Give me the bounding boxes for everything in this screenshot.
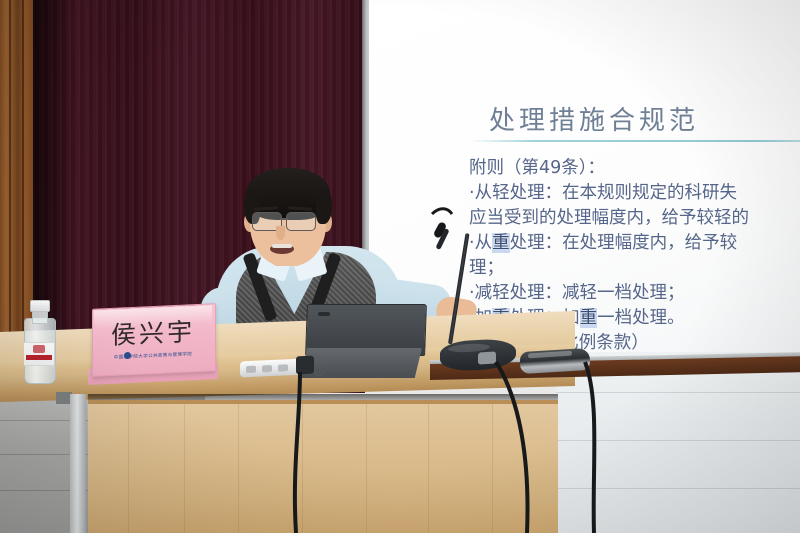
- vignette: [0, 0, 800, 533]
- photo-scene: 处理措施合规范 附则（第49条）： ·从轻处理：在本规则规定的科研失 应当受到的…: [0, 0, 800, 533]
